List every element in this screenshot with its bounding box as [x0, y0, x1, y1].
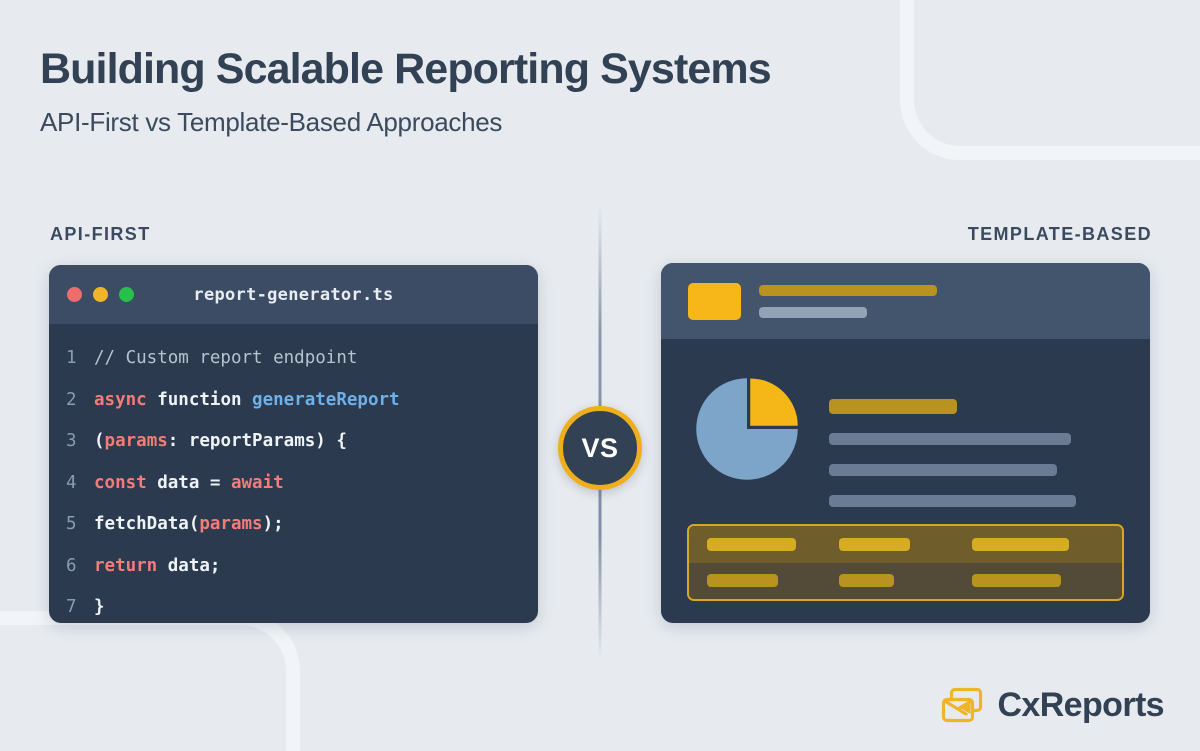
- code-token-fn: generateReport: [252, 380, 400, 422]
- code-window-titlebar: report-generator.ts: [49, 265, 538, 324]
- code-line: 7}: [49, 587, 538, 623]
- vs-badge: VS: [558, 406, 642, 490]
- template-preview-window: [661, 263, 1150, 623]
- header: Building Scalable Reporting Systems API-…: [40, 44, 771, 138]
- code-editor-body: 1// Custom report endpoint2async functio…: [49, 324, 538, 623]
- content-line-highlight: [829, 399, 957, 414]
- code-line: 1// Custom report endpoint: [49, 338, 538, 380]
- code-token-keyword: const: [94, 463, 147, 505]
- brand-logo: CxReports: [941, 686, 1164, 725]
- code-token-keyword: await: [231, 463, 284, 505]
- template-content-lines: [829, 399, 1126, 507]
- code-line: 5fetchData(params);: [49, 504, 538, 546]
- code-line: 3(params: reportParams) {: [49, 421, 538, 463]
- content-line-3: [829, 495, 1076, 507]
- pie-chart-icon: [693, 375, 801, 483]
- template-preview-header: [661, 263, 1150, 339]
- template-logo-placeholder: [688, 283, 741, 320]
- code-token-keyword: async: [94, 380, 147, 422]
- code-window: report-generator.ts 1// Custom report en…: [49, 265, 538, 623]
- column-label-api-first: API-FIRST: [50, 224, 151, 245]
- code-line: 4const data = await: [49, 463, 538, 505]
- background-decoration-top-right: [900, 0, 1200, 160]
- code-token-plain: );: [263, 504, 284, 546]
- code-token-plain: : reportParams) {: [168, 421, 347, 463]
- line-number: 2: [66, 380, 94, 422]
- table-header-cell: [839, 538, 971, 551]
- code-token-comment: // Custom report endpoint: [94, 338, 357, 380]
- line-number: 3: [66, 421, 94, 463]
- table-header-cell: [972, 538, 1104, 551]
- page-title: Building Scalable Reporting Systems: [40, 44, 771, 95]
- table-body-row: [689, 563, 1122, 600]
- background-decoration-bottom-left: [0, 611, 300, 751]
- code-token-param: params: [105, 421, 168, 463]
- column-label-template-based: TEMPLATE-BASED: [968, 224, 1152, 245]
- table-header-cell: [707, 538, 839, 551]
- window-traffic-lights: [67, 287, 134, 302]
- template-preview-body: [661, 339, 1150, 623]
- template-header-subtitle-bar: [759, 307, 867, 318]
- brand-name: CxReports: [997, 686, 1164, 725]
- page-subtitle: API-First vs Template-Based Approaches: [40, 107, 771, 138]
- line-number: 6: [66, 546, 94, 588]
- code-token-plain: data =: [147, 463, 231, 505]
- code-token-plain: fetchData(: [94, 504, 199, 546]
- maximize-dot-icon[interactable]: [119, 287, 134, 302]
- envelope-chevron-icon: [941, 687, 983, 725]
- template-header-title-bar: [759, 285, 937, 296]
- line-number: 5: [66, 504, 94, 546]
- minimize-dot-icon[interactable]: [93, 287, 108, 302]
- template-table: [687, 524, 1124, 601]
- table-body-cell: [972, 574, 1104, 587]
- table-body-cell: [839, 574, 971, 587]
- line-number: 7: [66, 587, 94, 623]
- code-line: 2async function generateReport: [49, 380, 538, 422]
- code-token-plain: }: [94, 587, 105, 623]
- table-body-cell: [707, 574, 839, 587]
- code-line: 6return data;: [49, 546, 538, 588]
- close-dot-icon[interactable]: [67, 287, 82, 302]
- content-line-2: [829, 464, 1057, 476]
- code-token-plain: function: [147, 380, 252, 422]
- template-header-lines: [759, 285, 937, 318]
- content-line-1: [829, 433, 1071, 445]
- line-number: 1: [66, 338, 94, 380]
- line-number: 4: [66, 463, 94, 505]
- code-token-plain: data;: [157, 546, 220, 588]
- code-token-plain: (: [94, 421, 105, 463]
- code-token-param: params: [199, 504, 262, 546]
- code-token-keyword: return: [94, 546, 157, 588]
- table-header-row: [689, 526, 1122, 563]
